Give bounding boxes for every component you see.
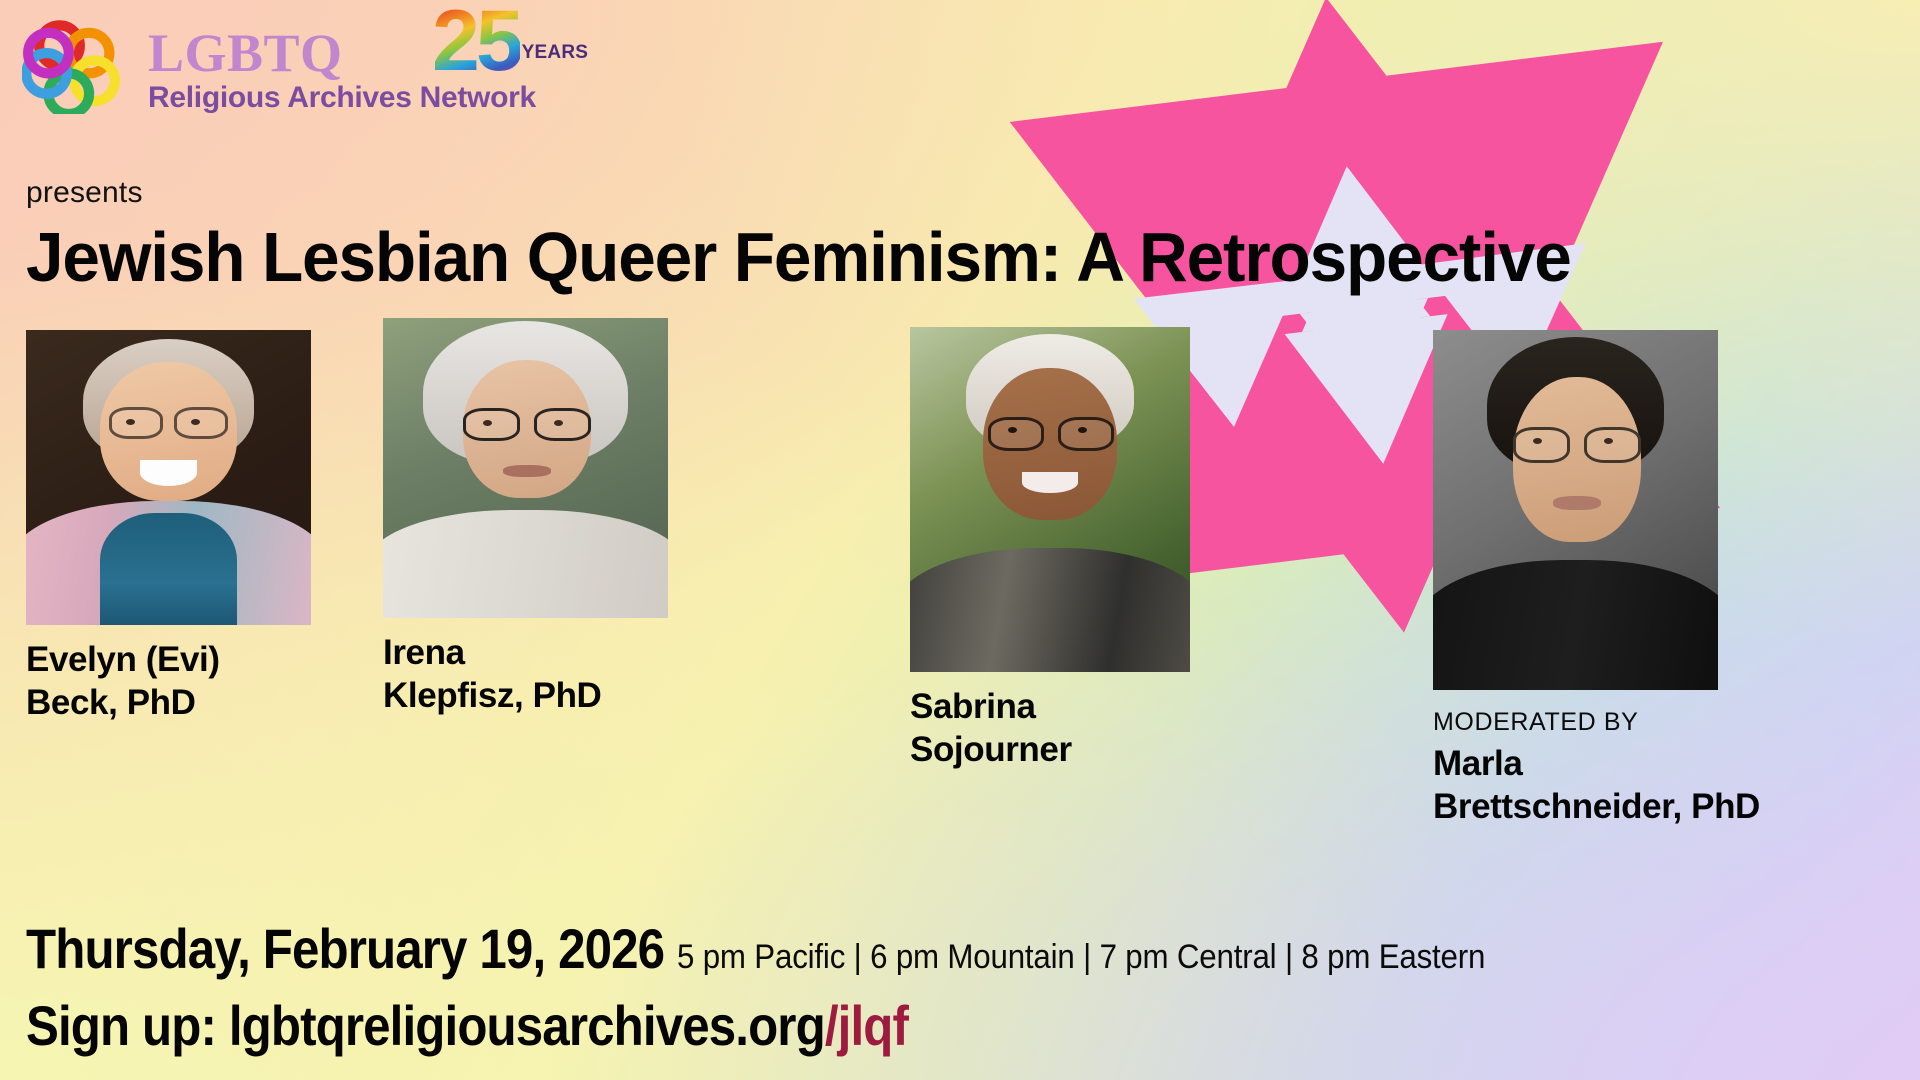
speaker-name: Irena Klepfisz, PhD — [383, 632, 668, 717]
speaker-photo — [26, 330, 311, 625]
footer: Thursday, February 19, 2026 5 pm Pacific… — [26, 916, 1906, 1058]
speaker-name: Evelyn (Evi) Beck, PhD — [26, 639, 311, 724]
moderator-label: MODERATED BY — [1433, 708, 1760, 737]
speaker-photo — [383, 318, 668, 618]
speaker-card: Irena Klepfisz, PhD — [383, 318, 668, 717]
anniversary-unit: YEARS — [522, 42, 588, 64]
moderator-card: MODERATED BY Marla Brettschneider, PhD — [1433, 330, 1760, 828]
date-line: Thursday, February 19, 2026 5 pm Pacific… — [26, 916, 1906, 981]
signup-line[interactable]: Sign up: lgbtqreligiousarchives.org/jlqf — [26, 993, 1680, 1058]
speaker-card: Evelyn (Evi) Beck, PhD — [26, 330, 311, 724]
anniversary-badge: 25 YEARS — [432, 6, 588, 77]
speaker-name: Sabrina Sojourner — [910, 686, 1190, 771]
event-times: 5 pm Pacific | 6 pm Mountain | 7 pm Cent… — [677, 938, 1485, 977]
moderator-photo — [1433, 330, 1718, 690]
moderator-name: Marla Brettschneider, PhD — [1433, 743, 1760, 828]
rainbow-rings-icon — [22, 18, 134, 114]
speaker-card: Sabrina Sojourner — [910, 327, 1190, 771]
signup-url: Sign up: lgbtqreligiousarchives.org — [26, 994, 825, 1057]
event-date: Thursday, February 19, 2026 — [26, 916, 664, 981]
event-poster: LGBTQ Religious Archives Network 25 YEAR… — [0, 0, 1920, 1080]
signup-slug: /jlqf — [825, 994, 908, 1057]
event-title: Jewish Lesbian Queer Feminism: A Retrosp… — [26, 222, 1840, 292]
speaker-photo — [910, 327, 1190, 672]
speakers-row: Evelyn (Evi) Beck, PhD Irena Klepfisz, P… — [0, 330, 1920, 760]
anniversary-number: 25 — [432, 6, 520, 77]
presents-label: presents — [26, 176, 143, 210]
